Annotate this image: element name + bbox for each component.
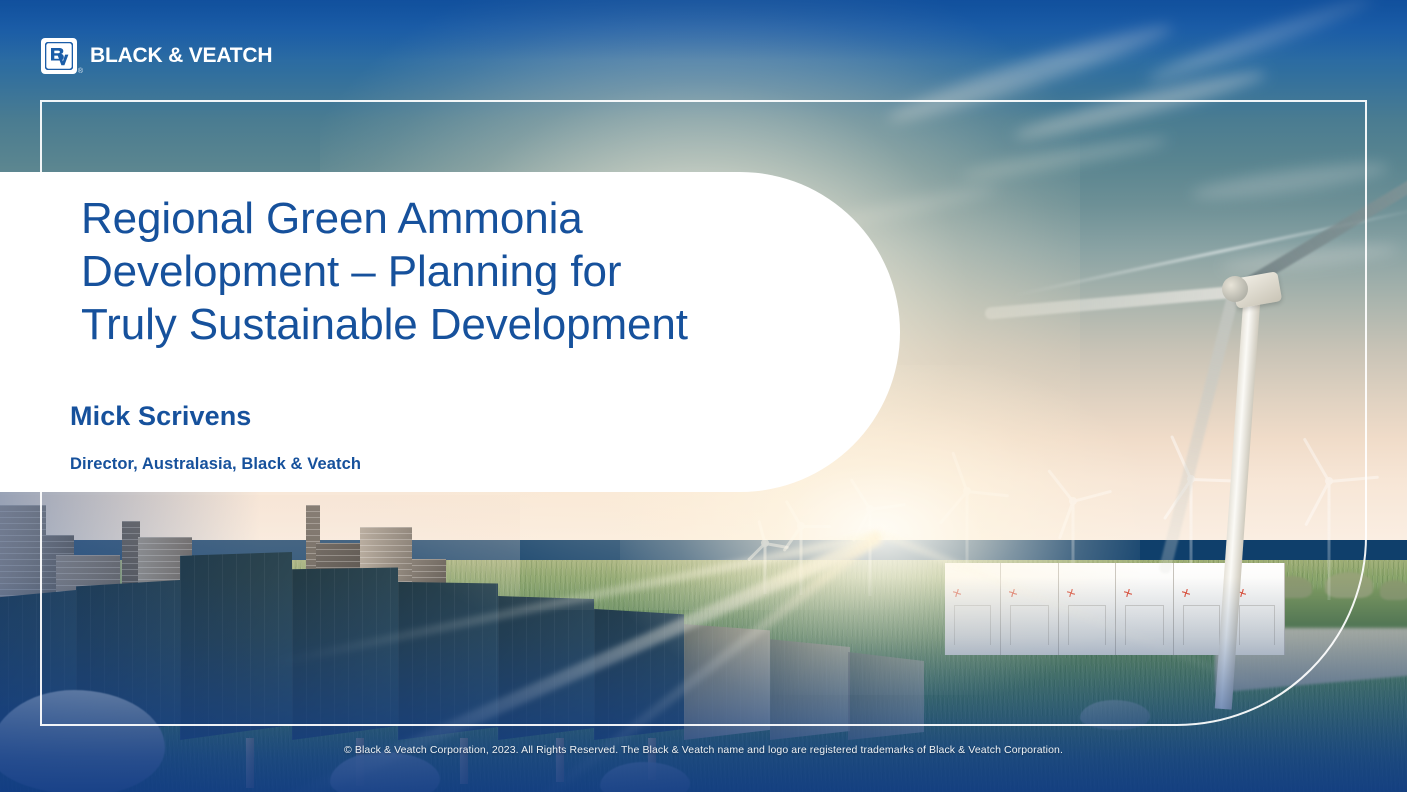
copyright-footer: © Black & Veatch Corporation, 2023. All … <box>0 744 1407 756</box>
turbine-hub <box>1222 276 1248 302</box>
bv-monogram-icon: ® <box>41 38 77 74</box>
registered-mark-icon: ® <box>78 68 83 75</box>
title-block: Regional Green Ammonia Development – Pla… <box>81 193 781 351</box>
brand-wordmark: BLACK & VEATCH <box>90 44 272 68</box>
bottom-blue-gradient <box>0 577 1407 792</box>
presenter-name: Mick Scrivens <box>70 401 251 432</box>
page-title: Regional Green Ammonia Development – Pla… <box>81 193 781 351</box>
brand-logo[interactable]: ® BLACK & VEATCH <box>41 38 272 74</box>
title-slide: ® BLACK & VEATCH Regional Green Ammonia … <box>0 0 1407 792</box>
presenter-role: Director, Australasia, Black & Veatch <box>70 455 361 474</box>
